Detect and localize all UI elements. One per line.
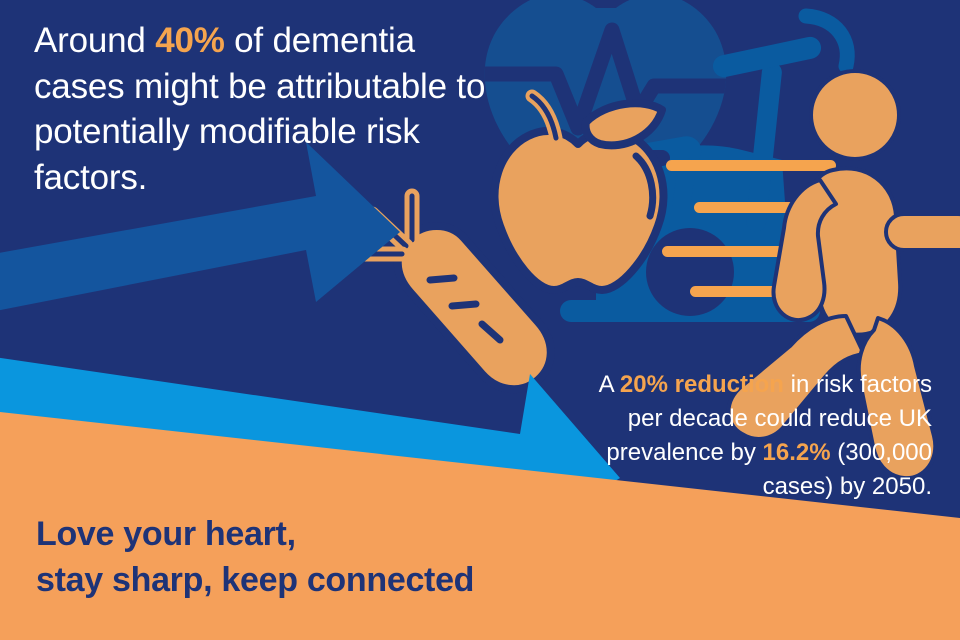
headline-highlight-40: 40% (155, 21, 224, 60)
stat-highlight-16-2: 16.2% (763, 439, 831, 466)
tagline-line-2: stay sharp, keep connected (36, 558, 676, 604)
tagline-line-1: Love your heart, (36, 512, 676, 558)
stat-part1: A (599, 371, 620, 398)
page-title: Around 40% of dementia cases might be at… (34, 18, 514, 200)
tagline: Love your heart, stay sharp, keep connec… (36, 512, 676, 604)
infographic-canvas: Around 40% of dementia cases might be at… (0, 0, 960, 640)
stat-highlight-20-reduction: 20% reduction (620, 371, 784, 398)
headline-before: Around (34, 21, 155, 60)
stat-paragraph: A 20% reduction in risk factors per deca… (572, 368, 932, 504)
